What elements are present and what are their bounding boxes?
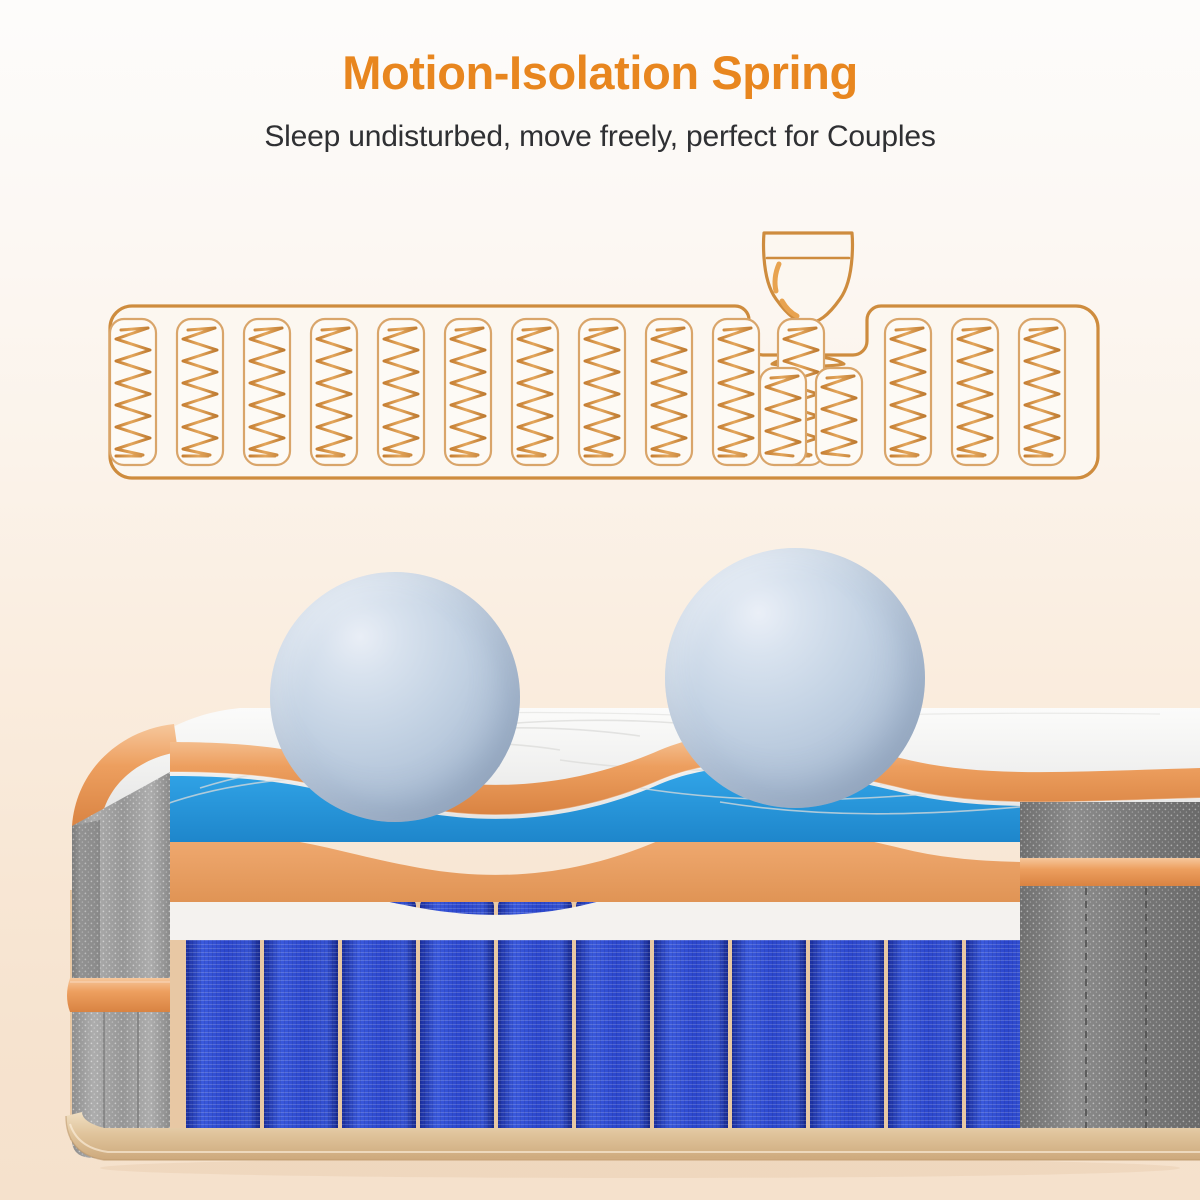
spring-diagram-svg <box>0 215 1200 525</box>
coil-capsule-depressed <box>816 368 862 465</box>
coil-capsule <box>311 319 357 465</box>
mattress-svg <box>0 520 1200 1200</box>
pressure-ball-right <box>665 548 925 808</box>
coil-capsule <box>1019 319 1065 465</box>
headings-block: Motion-Isolation Spring Sleep undisturbe… <box>0 0 1200 154</box>
coil-capsule-depressed <box>760 368 806 465</box>
mid-piping-band <box>67 978 170 1012</box>
ground-shadow <box>100 1158 1180 1178</box>
spring-row-diagram <box>0 215 1200 525</box>
page-subtitle: Sleep undisturbed, move freely, perfect … <box>0 120 1200 154</box>
pressure-ball-left <box>270 572 520 822</box>
coil-capsule <box>885 319 931 465</box>
gray-knit-side-panel-right <box>1020 802 1200 1140</box>
coil-capsule <box>512 319 558 465</box>
coil-capsule <box>244 319 290 465</box>
coil-capsule <box>646 319 692 465</box>
coil-capsule <box>445 319 491 465</box>
product-graphic-canvas: Motion-Isolation Spring Sleep undisturbe… <box>0 0 1200 1200</box>
coil-capsule <box>579 319 625 465</box>
coil-capsules <box>110 319 1065 465</box>
coil-capsule <box>177 319 223 465</box>
mattress-cross-section <box>0 520 1200 1200</box>
coil-capsule <box>952 319 998 465</box>
coil-capsule <box>713 319 759 465</box>
coil-capsule <box>110 319 156 465</box>
gray-knit-side-panel <box>67 772 170 1158</box>
page-title: Motion-Isolation Spring <box>0 48 1200 98</box>
coil-capsule <box>378 319 424 465</box>
